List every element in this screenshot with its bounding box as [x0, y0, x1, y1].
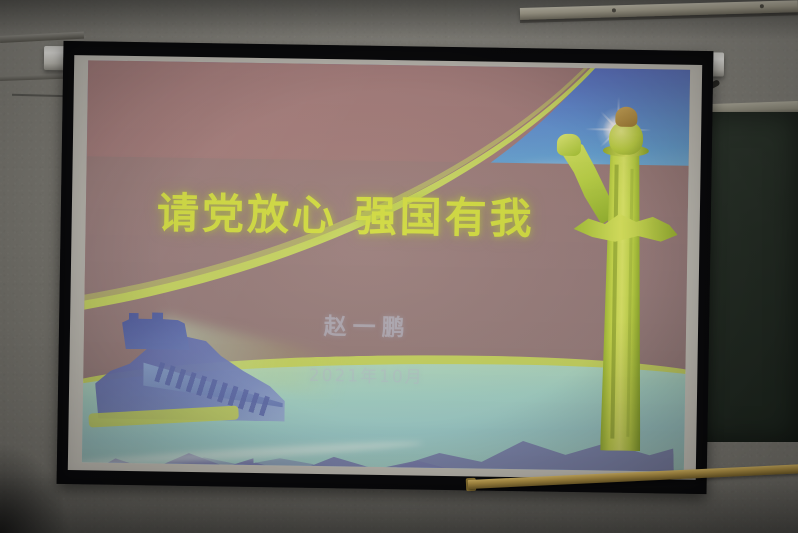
hand-icon	[557, 134, 581, 156]
projection-screen[interactable]: 请党放心 强国有我 赵一鹏 2021年10月	[57, 41, 714, 494]
slide-title: 请党放心 强国有我	[85, 178, 606, 247]
huabiao-monument-graphic	[548, 78, 684, 472]
screen-mat: 请党放心 强国有我 赵一鹏 2021年10月	[68, 55, 702, 480]
rail-screw-icon	[760, 4, 764, 8]
classroom-scene: 请党放心 强国有我 赵一鹏 2021年10月	[0, 0, 798, 533]
presentation-slide[interactable]: 请党放心 强国有我 赵一鹏 2021年10月	[82, 60, 690, 471]
rail-screw-icon	[612, 8, 616, 12]
pillar-beast-icon	[615, 107, 637, 127]
